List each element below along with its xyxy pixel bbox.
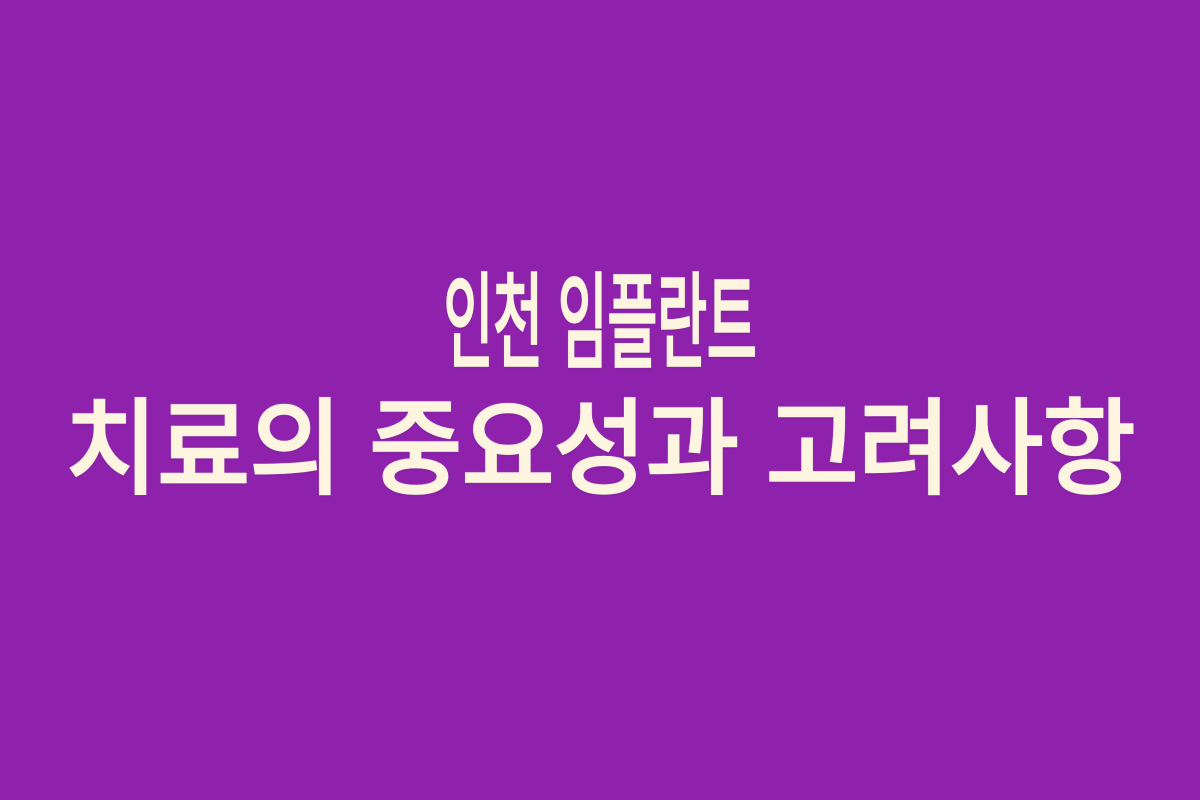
title-banner: 인천 임플란트 치료의 중요성과 고려사항 <box>0 0 1200 800</box>
headline-line-1: 인천 임플란트 <box>294 272 906 390</box>
headline-block: 인천 임플란트 치료의 중요성과 고려사항 <box>0 272 1200 516</box>
headline-line-2: 치료의 중요성과 고려사항 <box>32 398 1168 516</box>
